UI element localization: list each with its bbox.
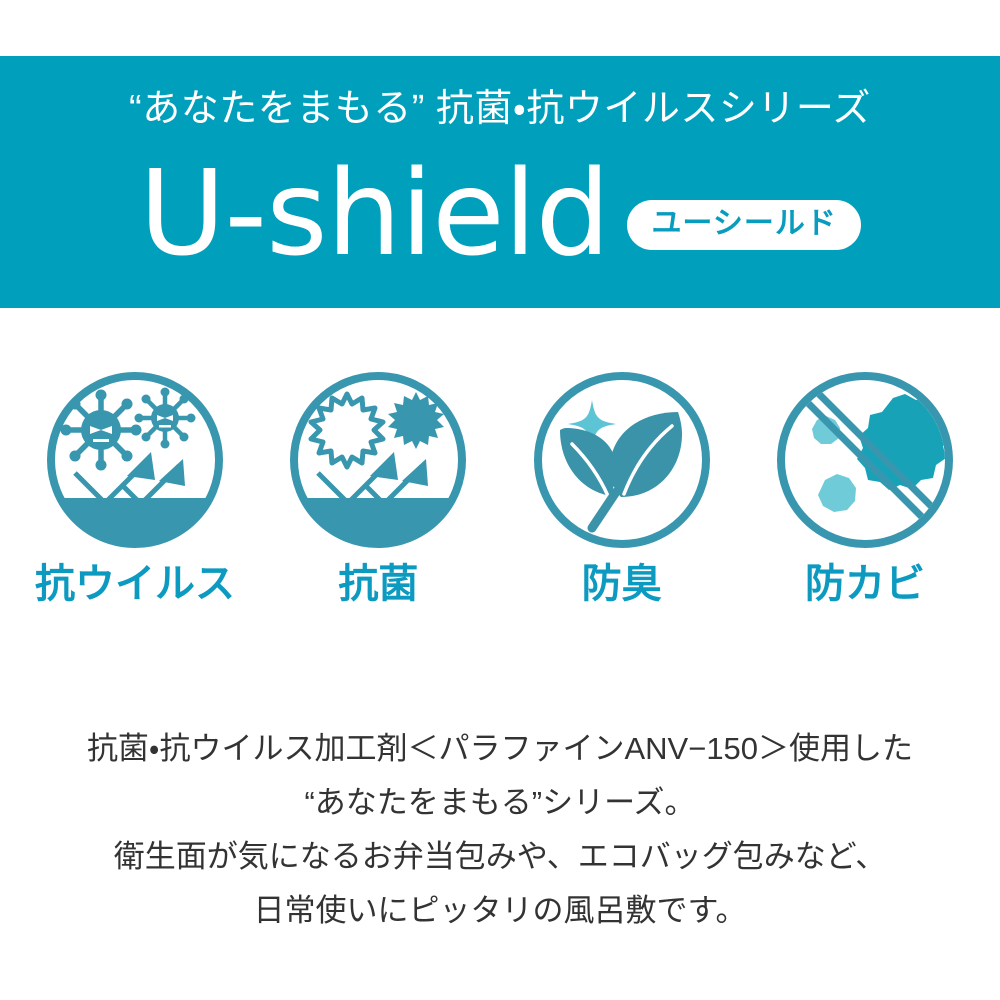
product-logo: U-shield [139,156,609,272]
body-line-4: 日常使いにピッタリの風呂敷です。 [0,884,1000,938]
logo-row: U-shield ユーシールド [0,156,1000,272]
anti-virus-icon [43,368,227,552]
feature-item-deodorant: 防臭 [517,368,727,604]
feature-item-anti-mold: 防カビ [760,368,970,604]
body-copy: 抗菌・抗ウイルス加工剤＜パラファインANV−150＞使用した “あなたをまもる”… [0,722,1000,938]
body-line-3: 衛生面が気になるお弁当包みや、エコバッグ包みなど、 [0,830,1000,884]
anti-mold-icon [773,368,957,552]
feature-label-anti-virus: 抗ウイルス [35,564,235,604]
anti-bacterial-icon [286,368,470,552]
feature-label-anti-mold: 防カビ [805,564,925,604]
feature-label-deodorant: 防臭 [582,564,662,604]
body-line-1: 抗菌・抗ウイルス加工剤＜パラファインANV−150＞使用した [0,722,1000,776]
feature-label-anti-bacterial: 抗菌 [338,564,418,604]
body-line-2: “あなたをまもる”シリーズ。 [0,776,1000,830]
feature-item-anti-virus: 抗ウイルス [30,368,240,604]
feature-item-anti-bacterial: 抗菌 [273,368,483,604]
deodorant-leaf-icon [530,368,714,552]
banner-tagline: “あなたをまもる” 抗菌・抗ウイルスシリーズ [0,90,1000,128]
header-banner: “あなたをまもる” 抗菌・抗ウイルスシリーズ U-shield ユーシールド [0,56,1000,308]
feature-list: 抗ウイルス 抗菌 [0,368,1000,604]
logo-reading-badge: ユーシールド [627,200,860,250]
